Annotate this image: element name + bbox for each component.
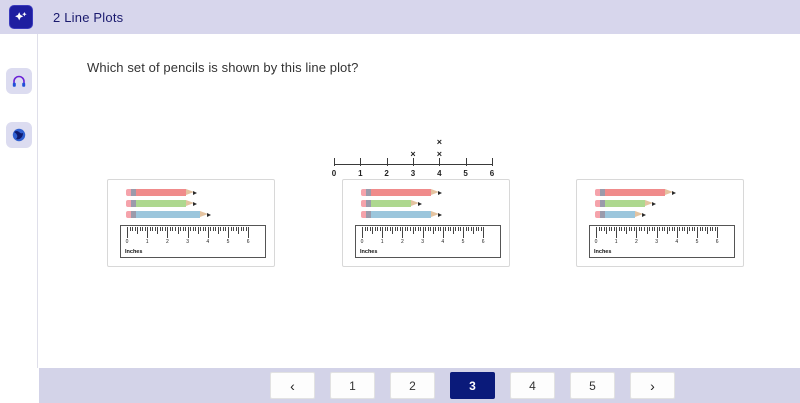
ruler-tick <box>644 227 645 231</box>
nav-left-spacer <box>0 368 39 403</box>
ruler-tick <box>150 227 151 231</box>
line-plot-x-mark: × <box>437 149 442 159</box>
ruler-number: 6 <box>716 239 719 245</box>
ruler-tick <box>621 227 622 231</box>
line-plot-tick-label: 2 <box>384 169 388 178</box>
app-root: 2 Line Plots Which set of pencils is <box>0 0 800 403</box>
ruler-tick <box>238 227 239 234</box>
ruler-tick <box>476 227 477 231</box>
pencil-body <box>371 189 431 196</box>
ruler-tick <box>473 227 474 234</box>
ruler-tick <box>397 227 398 231</box>
ruler-tick <box>639 227 640 231</box>
ruler-tick <box>616 227 617 238</box>
ruler-tick <box>405 227 406 231</box>
sparkle-icon[interactable] <box>9 5 33 29</box>
ruler-tick <box>455 227 456 231</box>
ruler-tick <box>180 227 181 231</box>
pencil-body <box>136 189 186 196</box>
ruler-tick <box>664 227 665 231</box>
ruler-tick <box>657 227 658 238</box>
ruler-tick <box>390 227 391 231</box>
ruler-number: 2 <box>635 239 638 245</box>
pencil-body <box>136 200 186 207</box>
ruler-tick <box>178 227 179 234</box>
ruler-number: 0 <box>595 239 598 245</box>
headphones-icon <box>11 73 27 89</box>
ruler-tick <box>190 227 191 231</box>
ruler-tick <box>130 227 131 231</box>
pencil-body <box>605 211 635 218</box>
ruler-tick <box>382 227 383 238</box>
ruler-tick <box>380 227 381 231</box>
ruler-tick <box>205 227 206 231</box>
pencil <box>361 189 442 196</box>
ruler-tick <box>614 227 615 231</box>
ruler-tick <box>135 227 136 231</box>
ruler-tick <box>387 227 388 231</box>
ruler-tick <box>392 227 393 234</box>
ruler-tick <box>453 227 454 234</box>
line-plot-tick-label: 0 <box>332 169 336 178</box>
ruler-label: Inches <box>594 249 611 255</box>
answer-card[interactable]: 0123456Inches <box>576 179 744 267</box>
ruler-tick <box>423 227 424 238</box>
ruler-tick <box>370 227 371 231</box>
ruler: 0123456Inches <box>355 225 501 258</box>
ruler-number: 5 <box>696 239 699 245</box>
ruler-number: 1 <box>615 239 618 245</box>
ruler-tick <box>687 227 688 234</box>
ruler: 0123456Inches <box>120 225 266 258</box>
sparkle-glyph <box>13 9 29 25</box>
ruler-tick <box>445 227 446 231</box>
page-button-1[interactable]: 1 <box>330 372 375 399</box>
ruler-tick <box>241 227 242 231</box>
ruler-tick <box>152 227 153 231</box>
ruler-tick <box>684 227 685 231</box>
ruler-tick <box>193 227 194 231</box>
pencil-body <box>605 189 665 196</box>
ruler-tick <box>413 227 414 234</box>
ruler-tick <box>140 227 141 231</box>
pencil-group <box>595 189 737 223</box>
pencil <box>595 200 656 207</box>
pencil-group <box>126 189 268 223</box>
ruler-tick <box>430 227 431 231</box>
ruler-tick <box>400 227 401 231</box>
ruler-tick <box>203 227 204 231</box>
page-button-2[interactable]: 2 <box>390 372 435 399</box>
ruler-tick <box>362 227 363 238</box>
ruler-number: 2 <box>166 239 169 245</box>
ruler-tick <box>233 227 234 231</box>
app-header: 2 Line Plots <box>0 0 800 34</box>
ruler-tick <box>167 227 168 238</box>
ruler-number: 4 <box>675 239 678 245</box>
ruler-number: 3 <box>186 239 189 245</box>
line-plot: 0123456 ××× Inches <box>314 89 514 164</box>
ruler-tick <box>198 227 199 234</box>
line-plot-tick <box>413 158 414 166</box>
ruler-number: 4 <box>441 239 444 245</box>
ruler-number: 6 <box>247 239 250 245</box>
ruler-tick <box>185 227 186 231</box>
line-plot-tick <box>387 158 388 166</box>
ruler-tick <box>631 227 632 231</box>
ruler-tick <box>707 227 708 234</box>
ruler-tick <box>132 227 133 231</box>
ruler-tick <box>183 227 184 231</box>
ruler-tick <box>162 227 163 231</box>
ruler-tick <box>634 227 635 231</box>
ruler-tick <box>694 227 695 231</box>
ruler-tick <box>697 227 698 238</box>
ruler-tick <box>200 227 201 231</box>
ruler-tick <box>466 227 467 231</box>
ruler-number: 2 <box>401 239 404 245</box>
ruler-tick <box>231 227 232 231</box>
line-plot-tick <box>466 158 467 166</box>
pencil-tip <box>193 202 197 206</box>
ruler-tick <box>372 227 373 234</box>
ruler-tick <box>448 227 449 231</box>
globe-icon <box>11 127 27 143</box>
pencil <box>126 211 211 218</box>
pencil-tip <box>193 191 197 195</box>
ruler-tick <box>215 227 216 231</box>
ruler-tick <box>689 227 690 231</box>
ruler-tick <box>127 227 128 238</box>
sidebar-item-audio[interactable] <box>0 68 37 94</box>
ruler-tick <box>458 227 459 231</box>
ruler-tick <box>170 227 171 231</box>
pencil-tip <box>438 213 442 217</box>
ruler-tick <box>674 227 675 231</box>
answer-card[interactable]: 0123456Inches <box>342 179 510 267</box>
ruler-tick <box>225 227 226 231</box>
sidebar <box>0 34 38 368</box>
ruler-tick <box>679 227 680 231</box>
ruler-tick <box>460 227 461 231</box>
ruler-tick <box>428 227 429 231</box>
pencil-tip <box>672 191 676 195</box>
line-plot-tick <box>360 158 361 166</box>
ruler-label: Inches <box>360 249 377 255</box>
ruler-tick <box>606 227 607 234</box>
ruler-tick <box>407 227 408 231</box>
prev-page-button[interactable]: ‹ <box>270 372 315 399</box>
ruler-tick <box>636 227 637 238</box>
pencil <box>595 189 676 196</box>
ruler-tick <box>365 227 366 231</box>
ruler-tick <box>702 227 703 231</box>
pagination-buttons: ‹12345› <box>270 372 675 399</box>
ruler-tick <box>157 227 158 234</box>
ruler-tick <box>483 227 484 238</box>
next-page-button[interactable]: › <box>630 372 675 399</box>
ruler-tick <box>367 227 368 231</box>
ruler-tick <box>715 227 716 231</box>
ruler: 0123456Inches <box>589 225 735 258</box>
question-text: Which set of pencils is shown by this li… <box>87 60 358 75</box>
ruler-tick <box>147 227 148 238</box>
ruler-tick <box>599 227 600 231</box>
answer-card[interactable]: 0123456Inches <box>107 179 275 267</box>
line-plot-x-mark: × <box>410 149 415 159</box>
ruler-tick <box>700 227 701 231</box>
ruler-tick <box>710 227 711 231</box>
ruler-tick <box>712 227 713 231</box>
ruler-tick <box>450 227 451 231</box>
ruler-number: 6 <box>482 239 485 245</box>
ruler-tick <box>624 227 625 231</box>
ruler-tick <box>659 227 660 231</box>
ruler-tick <box>443 227 444 238</box>
ruler-number: 5 <box>227 239 230 245</box>
pencil <box>126 189 197 196</box>
ruler-tick <box>195 227 196 231</box>
pencil-tip <box>438 191 442 195</box>
ruler-tick <box>175 227 176 231</box>
ruler-tick <box>243 227 244 231</box>
page-button-5[interactable]: 5 <box>570 372 615 399</box>
ruler-tick <box>609 227 610 231</box>
page-button-3[interactable]: 3 <box>450 372 495 399</box>
line-plot-tick-label: 6 <box>490 169 494 178</box>
pencil <box>126 200 197 207</box>
ruler-number: 3 <box>655 239 658 245</box>
ruler-tick <box>228 227 229 238</box>
ruler-tick <box>647 227 648 234</box>
ruler-tick <box>385 227 386 231</box>
ruler-tick <box>619 227 620 231</box>
ruler-tick <box>223 227 224 231</box>
ruler-number: 3 <box>421 239 424 245</box>
ruler-tick <box>248 227 249 238</box>
ruler-tick <box>160 227 161 231</box>
ruler-tick <box>145 227 146 231</box>
ruler-tick <box>208 227 209 238</box>
pencil-tip <box>642 213 646 217</box>
pencil-tip <box>652 202 656 206</box>
ruler-tick <box>626 227 627 234</box>
ruler-tick <box>481 227 482 231</box>
pencil-body <box>371 200 411 207</box>
ruler-tick <box>649 227 650 231</box>
ruler-tick <box>440 227 441 231</box>
line-plot-tick-label: 1 <box>358 169 362 178</box>
pencil <box>361 200 422 207</box>
ruler-tick <box>641 227 642 231</box>
line-plot-tick-label: 4 <box>437 169 441 178</box>
ruler-tick <box>652 227 653 231</box>
ruler-tick <box>596 227 597 238</box>
ruler-tick <box>142 227 143 231</box>
line-plot-tick-label: 5 <box>463 169 467 178</box>
pencil-body <box>136 211 200 218</box>
line-plot-tick <box>439 158 440 166</box>
ruler-tick <box>188 227 189 238</box>
ruler-tick <box>377 227 378 231</box>
ruler-tick <box>468 227 469 231</box>
ruler-tick <box>669 227 670 231</box>
ruler-tick <box>438 227 439 231</box>
ruler-tick <box>172 227 173 231</box>
ruler-tick <box>246 227 247 231</box>
answer-options: 0123456Inches0123456Inches0123456Inches <box>39 179 800 269</box>
pencil-body <box>371 211 431 218</box>
ruler-tick <box>654 227 655 231</box>
line-plot-tick <box>334 158 335 166</box>
ruler-tick <box>218 227 219 234</box>
ruler-tick <box>137 227 138 234</box>
pencil-body <box>605 200 645 207</box>
ruler-tick <box>672 227 673 231</box>
ruler-tick <box>420 227 421 231</box>
ruler-number: 5 <box>462 239 465 245</box>
ruler-number: 4 <box>206 239 209 245</box>
ruler-number: 0 <box>361 239 364 245</box>
ruler-tick <box>155 227 156 231</box>
ruler-tick <box>667 227 668 234</box>
ruler-tick <box>402 227 403 238</box>
ruler-tick <box>425 227 426 231</box>
content-area: Which set of pencils is shown by this li… <box>39 34 800 368</box>
line-plot-tick-label: 3 <box>411 169 415 178</box>
ruler-tick <box>677 227 678 238</box>
ruler-tick <box>415 227 416 231</box>
ruler-tick <box>692 227 693 231</box>
page-button-4[interactable]: 4 <box>510 372 555 399</box>
ruler-number: 0 <box>126 239 129 245</box>
pencil-tip <box>418 202 422 206</box>
ruler-tick <box>478 227 479 231</box>
ruler-number: 1 <box>146 239 149 245</box>
ruler-tick <box>410 227 411 231</box>
ruler-tick <box>210 227 211 231</box>
ruler-tick <box>629 227 630 231</box>
ruler-tick <box>601 227 602 231</box>
ruler-tick <box>604 227 605 231</box>
line-plot-tick <box>492 158 493 166</box>
sidebar-item-language[interactable] <box>0 122 37 148</box>
ruler-tick <box>435 227 436 231</box>
line-plot-x-mark: × <box>437 137 442 147</box>
pencil <box>595 211 646 218</box>
pencil-tip <box>207 213 211 217</box>
ruler-tick <box>395 227 396 231</box>
ruler-tick <box>611 227 612 231</box>
page-title: 2 Line Plots <box>53 10 123 25</box>
ruler-tick <box>662 227 663 231</box>
ruler-tick <box>471 227 472 231</box>
ruler-tick <box>705 227 706 231</box>
pagination-bar: ‹12345› <box>0 368 800 403</box>
pencil-group <box>361 189 503 223</box>
ruler-tick <box>220 227 221 231</box>
ruler-number: 1 <box>381 239 384 245</box>
ruler-tick <box>463 227 464 238</box>
ruler-label: Inches <box>125 249 142 255</box>
ruler-tick <box>682 227 683 231</box>
ruler-tick <box>213 227 214 231</box>
ruler-tick <box>418 227 419 231</box>
ruler-tick <box>375 227 376 231</box>
ruler-tick <box>165 227 166 231</box>
pencil <box>361 211 442 218</box>
ruler-tick <box>236 227 237 231</box>
ruler-tick <box>433 227 434 234</box>
ruler-tick <box>717 227 718 238</box>
